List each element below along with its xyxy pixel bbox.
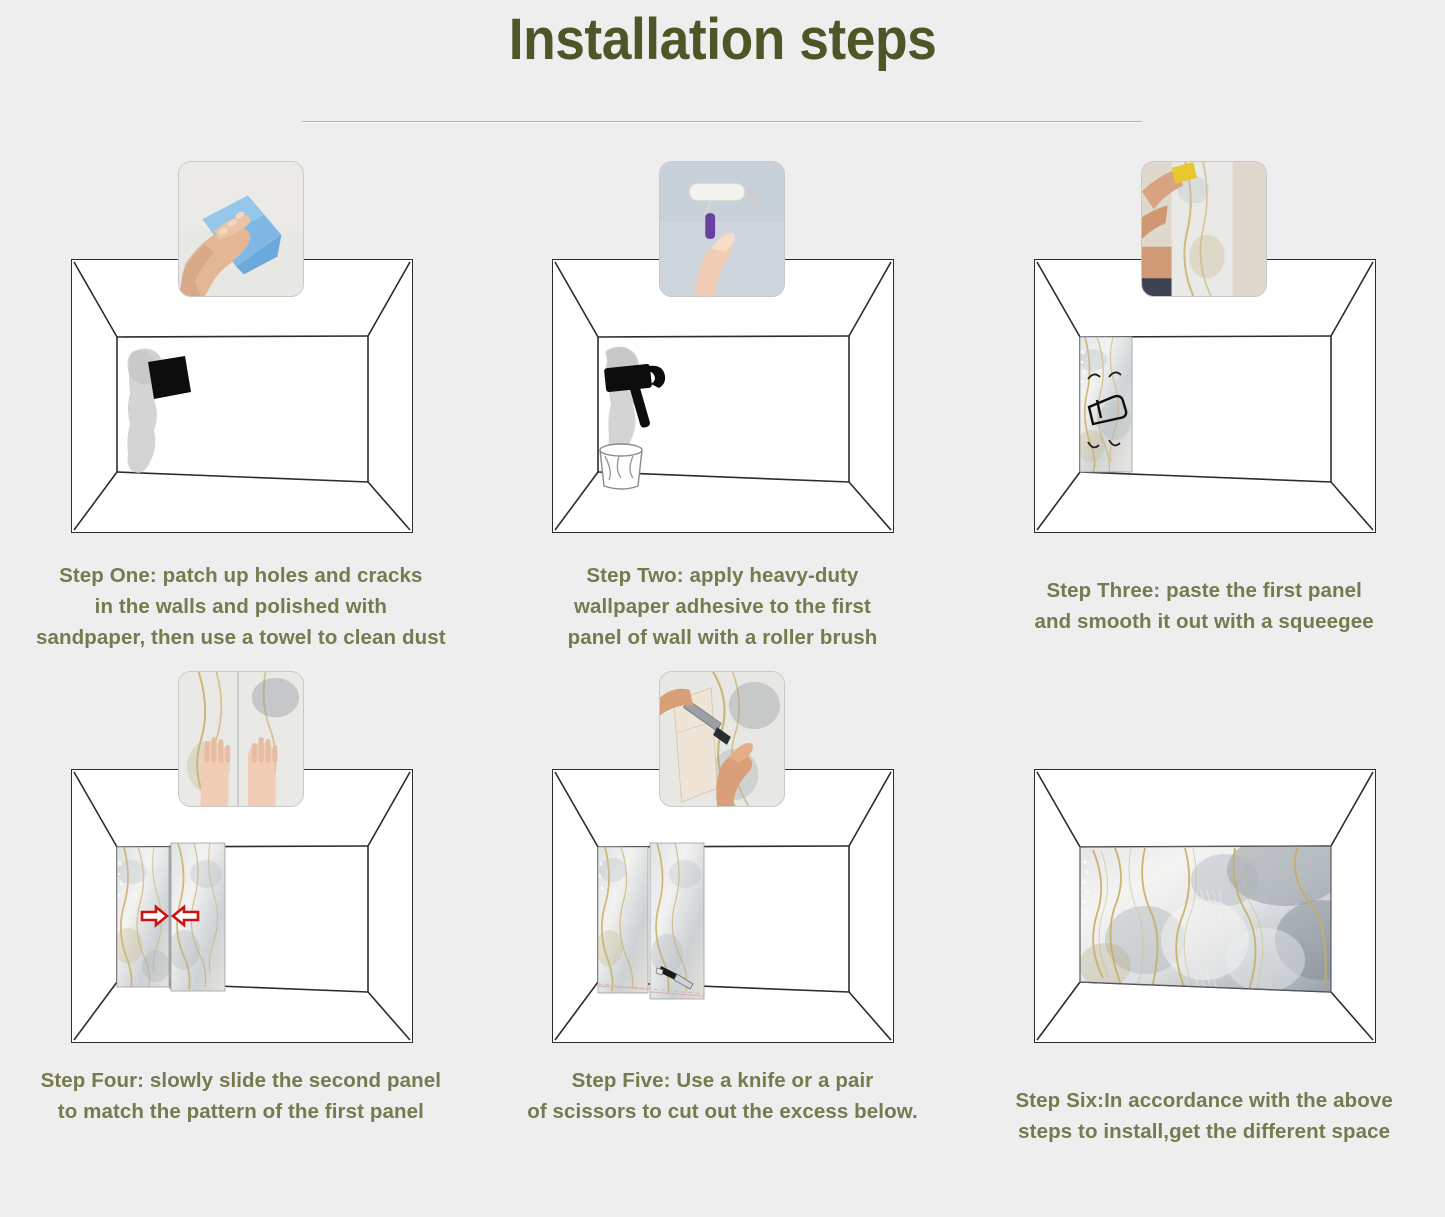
room-diagram-three bbox=[1034, 259, 1376, 533]
step-card-six: Step Six:In accordance with the above st… bbox=[963, 665, 1445, 1175]
step-two-caption: Step Two: apply heavy-duty wallpaper adh… bbox=[482, 560, 964, 653]
caption-line: Step Five: Use a knife or a pair bbox=[482, 1065, 964, 1096]
caption-line: steps to install,get the different space bbox=[963, 1116, 1445, 1147]
mural-panel-one-with-excess bbox=[595, 847, 648, 993]
step-one-illustration bbox=[0, 155, 482, 555]
room-diagram-five bbox=[552, 769, 894, 1043]
right-hand-shape bbox=[248, 737, 278, 806]
caption-line: to match the pattern of the first panel bbox=[0, 1096, 482, 1127]
caption-line: sandpaper, then use a towel to clean dus… bbox=[0, 622, 482, 653]
step-four-illustration bbox=[0, 665, 482, 1065]
thumbnail-hand-with-squeegee bbox=[1141, 161, 1267, 297]
page-title: Installation steps bbox=[58, 6, 1387, 73]
room-perspective-lines bbox=[555, 262, 891, 530]
caption-line: Step Three: paste the first panel bbox=[963, 575, 1445, 606]
left-hand-shape bbox=[200, 737, 230, 806]
room-diagram-six bbox=[1034, 769, 1376, 1043]
caption-line: wallpaper adhesive to the first bbox=[482, 591, 964, 622]
room-diagram-four bbox=[71, 769, 413, 1043]
caption-line: of scissors to cut out the excess below. bbox=[482, 1096, 964, 1127]
step-card-two: Step Two: apply heavy-duty wallpaper adh… bbox=[482, 155, 964, 665]
title-divider bbox=[302, 121, 1142, 123]
step-one-caption: Step One: patch up holes and cracks in t… bbox=[0, 560, 482, 653]
step-four-caption: Step Four: slowly slide the second panel… bbox=[0, 1065, 482, 1127]
caption-line: Step One: patch up holes and cracks bbox=[0, 560, 482, 591]
steps-grid: Step One: patch up holes and cracks in t… bbox=[0, 155, 1445, 1175]
room-diagram-two bbox=[552, 259, 894, 533]
thumbnail-hand-with-blue-cloth bbox=[178, 161, 304, 297]
thumbnail-two-hands-matching-seam bbox=[178, 671, 304, 807]
completed-full-wall-mural bbox=[1079, 834, 1367, 1000]
step-five-caption: Step Five: Use a knife or a pair of scis… bbox=[482, 1065, 964, 1127]
caption-line: panel of wall with a roller brush bbox=[482, 622, 964, 653]
thumbnail-cutting-with-knife bbox=[659, 671, 785, 807]
step-three-illustration bbox=[963, 155, 1445, 555]
step-card-five: Step Five: Use a knife or a pair of scis… bbox=[482, 665, 964, 1175]
step-card-three: Step Three: paste the first panel and sm… bbox=[963, 155, 1445, 665]
thumbnail-paint-roller bbox=[659, 161, 785, 297]
adhesive-bucket-icon bbox=[600, 444, 642, 489]
sandpaper-block-icon bbox=[148, 356, 191, 399]
step-six-illustration bbox=[963, 665, 1445, 1065]
step-five-illustration bbox=[482, 665, 964, 1065]
step-card-four: Step Four: slowly slide the second panel… bbox=[0, 665, 482, 1175]
step-card-one: Step One: patch up holes and cracks in t… bbox=[0, 155, 482, 665]
caption-line: and smooth it out with a squeegee bbox=[963, 606, 1445, 637]
caption-line: Step Six:In accordance with the above bbox=[963, 1085, 1445, 1116]
step-two-illustration bbox=[482, 155, 964, 555]
step-three-caption: Step Three: paste the first panel and sm… bbox=[963, 575, 1445, 637]
room-diagram-one bbox=[71, 259, 413, 533]
caption-line: Step Four: slowly slide the second panel bbox=[0, 1065, 482, 1096]
room-perspective-lines bbox=[74, 262, 410, 530]
caption-line: Step Two: apply heavy-duty bbox=[482, 560, 964, 591]
caption-line: in the walls and polished with bbox=[0, 591, 482, 622]
step-six-caption: Step Six:In accordance with the above st… bbox=[963, 1085, 1445, 1147]
